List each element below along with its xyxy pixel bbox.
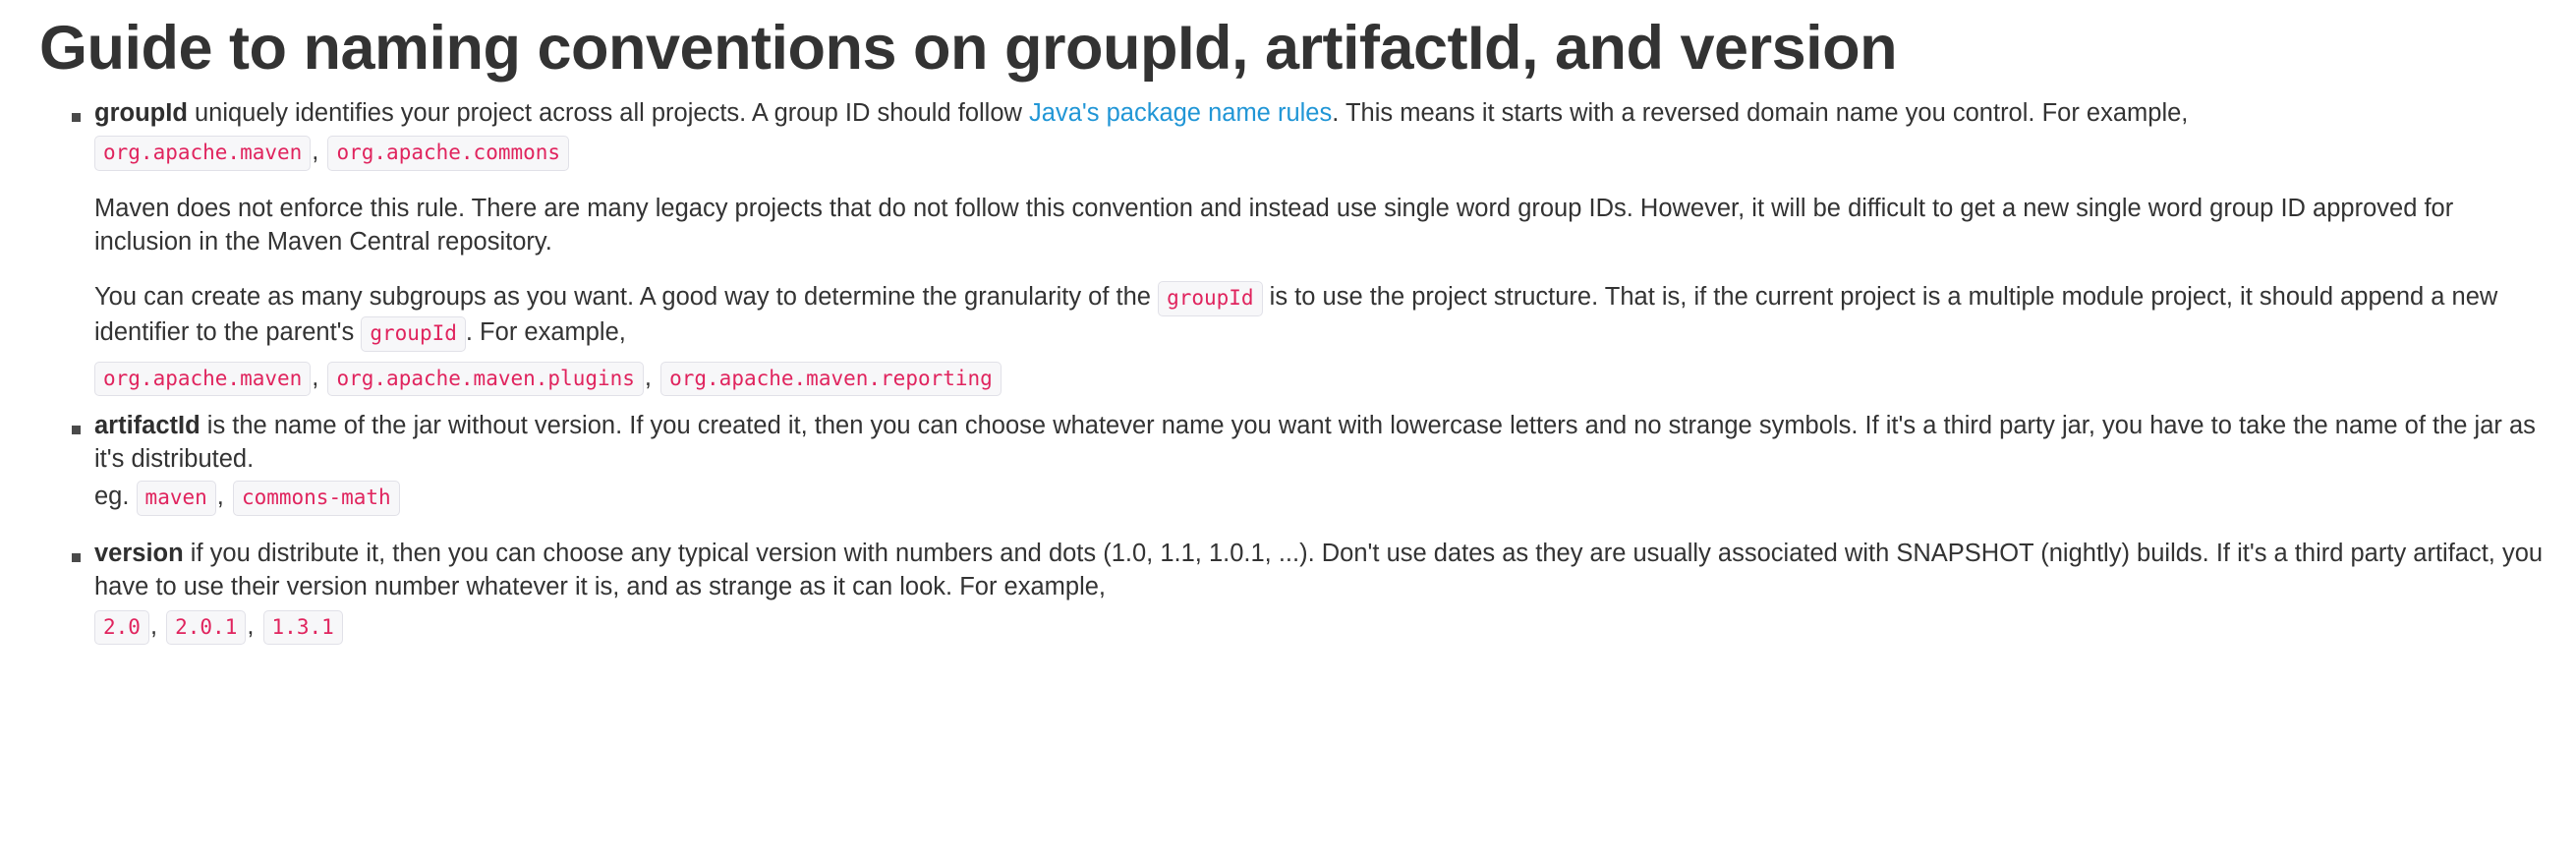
naming-conventions-list: groupId uniquely identifies your project… xyxy=(39,97,2547,646)
subgroups-text-part1: You can create as many subgroups as you … xyxy=(94,283,1158,311)
code-tag: maven xyxy=(137,481,216,516)
subgroups-text-part3: . For example, xyxy=(466,318,626,346)
version-term: version xyxy=(94,540,184,567)
list-item-groupid: groupId uniquely identifies your project… xyxy=(39,97,2547,397)
code-tag: org.apache.maven.plugins xyxy=(327,362,643,397)
groupid-enforcement-paragraph: Maven does not enforce this rule. There … xyxy=(94,193,2547,259)
code-tag: org.apache.maven.reporting xyxy=(660,362,1002,397)
code-tag-groupid-inline-2: groupId xyxy=(361,316,466,352)
groupid-intro-before-link: uniquely identifies your project across … xyxy=(188,99,1029,127)
code-tag: 1.3.1 xyxy=(263,610,343,646)
code-tag-groupid-inline-1: groupId xyxy=(1158,281,1263,316)
eg-label: eg. xyxy=(94,483,129,510)
groupid-intro-after-link: . This means it starts with a reversed d… xyxy=(1332,99,2188,127)
code-tag: org.apache.commons xyxy=(327,136,569,171)
artifactid-description: is the name of the jar without version. … xyxy=(94,412,2536,473)
groupid-subgroups-paragraph: You can create as many subgroups as you … xyxy=(94,281,2547,352)
comma-separator: , xyxy=(149,612,159,640)
code-tag: org.apache.maven xyxy=(94,136,311,171)
artifactid-term: artifactId xyxy=(94,412,200,439)
document-body: Guide to naming conventions on groupId, … xyxy=(0,0,2576,645)
square-bullet-icon xyxy=(72,426,81,434)
comma-separator: , xyxy=(311,138,320,165)
artifactid-paragraph: artifactId is the name of the jar withou… xyxy=(94,410,2547,477)
groupid-examples-row-1: org.apache.maven, org.apache.commons xyxy=(94,134,2547,171)
version-paragraph: version if you distribute it, then you c… xyxy=(94,538,2547,604)
code-tag: commons-math xyxy=(233,481,400,516)
comma-separator: , xyxy=(311,364,320,391)
java-package-name-rules-link[interactable]: Java's package name rules xyxy=(1029,99,1332,127)
groupid-examples-row-2: org.apache.maven, org.apache.maven.plugi… xyxy=(94,360,2547,397)
code-tag: 2.0.1 xyxy=(166,610,246,646)
list-item-artifactid: artifactId is the name of the jar withou… xyxy=(39,410,2547,516)
groupid-term: groupId xyxy=(94,99,188,127)
code-tag: org.apache.maven xyxy=(94,362,311,397)
list-item-version: version if you distribute it, then you c… xyxy=(39,538,2547,646)
groupid-intro-paragraph: groupId uniquely identifies your project… xyxy=(94,97,2547,131)
comma-separator: , xyxy=(216,483,226,510)
code-tag: 2.0 xyxy=(94,610,149,646)
square-bullet-icon xyxy=(72,113,81,122)
page-title: Guide to naming conventions on groupId, … xyxy=(39,14,2547,84)
comma-separator: , xyxy=(246,612,256,640)
square-bullet-icon xyxy=(72,553,81,562)
version-description: if you distribute it, then you can choos… xyxy=(94,540,2543,600)
comma-separator: , xyxy=(644,364,654,391)
artifactid-examples-row: eg. maven, commons-math xyxy=(94,479,2547,516)
version-examples-row: 2.0, 2.0.1, 1.3.1 xyxy=(94,608,2547,646)
